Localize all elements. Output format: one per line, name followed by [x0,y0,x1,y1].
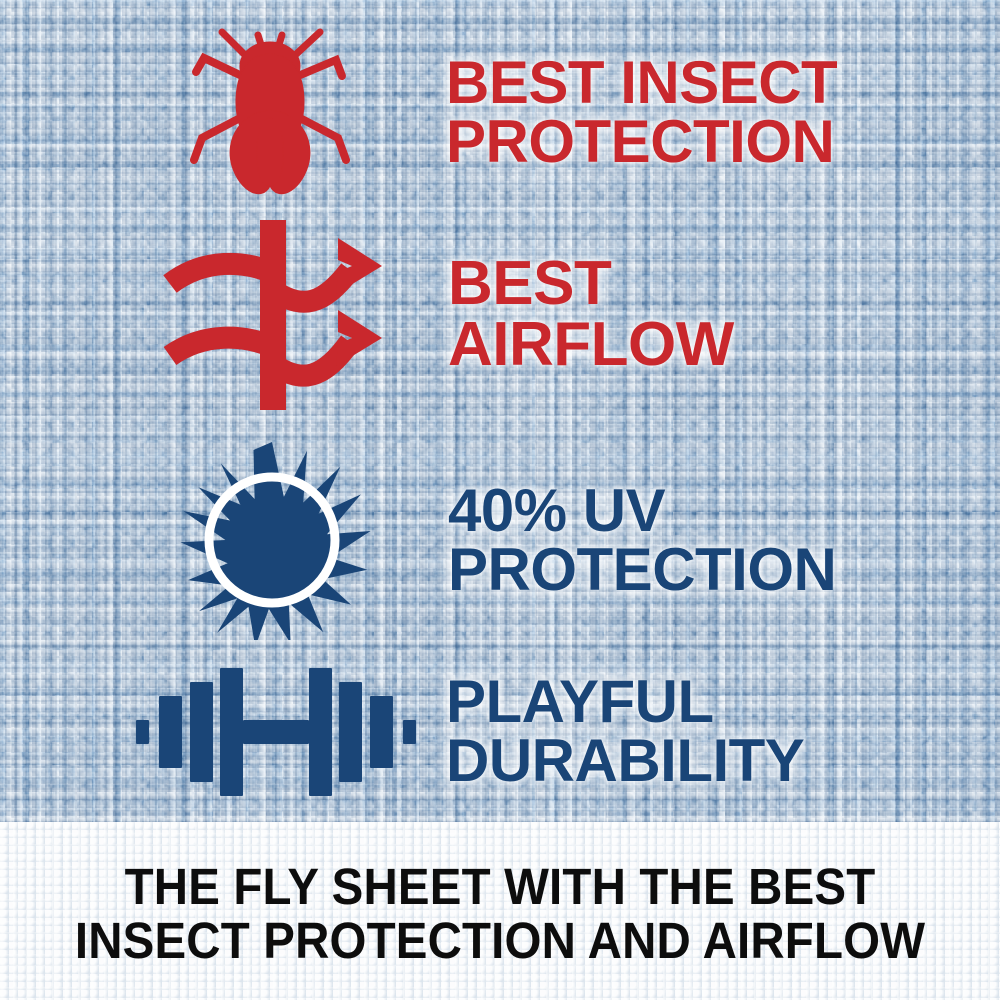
feature-label-uv-protection: 40% UV PROTECTION [448,481,836,600]
airflow-icon-cell [152,216,392,412]
feature-label-insect-protection: BEST INSECT PROTECTION [446,53,837,172]
caption-headline: THE FLY SHEET WITH THE BEST INSECT PROTE… [35,860,965,968]
infographic-canvas: BEST INSECT PROTECTION [0,0,1000,1000]
feature-row-insect-protection: BEST INSECT PROTECTION [170,14,1000,210]
feature-label-playful-durability: PLAYFUL DURABILITY [446,672,804,791]
feature-row-uv-protection: 40% UV PROTECTION [152,440,1000,640]
feature-label-best-airflow: BEST AIRFLOW [448,253,734,376]
sun-icon-cell [152,440,392,640]
airflow-arrows-icon [152,216,392,412]
membrane-bar [260,220,286,410]
feature-row-playful-durability: PLAYFUL DURABILITY [130,648,1000,814]
sun-uv-icon [152,440,392,640]
caption-band: THE FLY SHEET WITH THE BEST INSECT PROTE… [0,822,1000,1000]
dumbbell-icon-cell [130,656,422,806]
fly-icon [170,14,370,210]
dumbbell-icon [130,656,422,806]
feature-row-best-airflow: BEST AIRFLOW [152,216,1000,412]
fly-icon-cell [170,14,370,210]
